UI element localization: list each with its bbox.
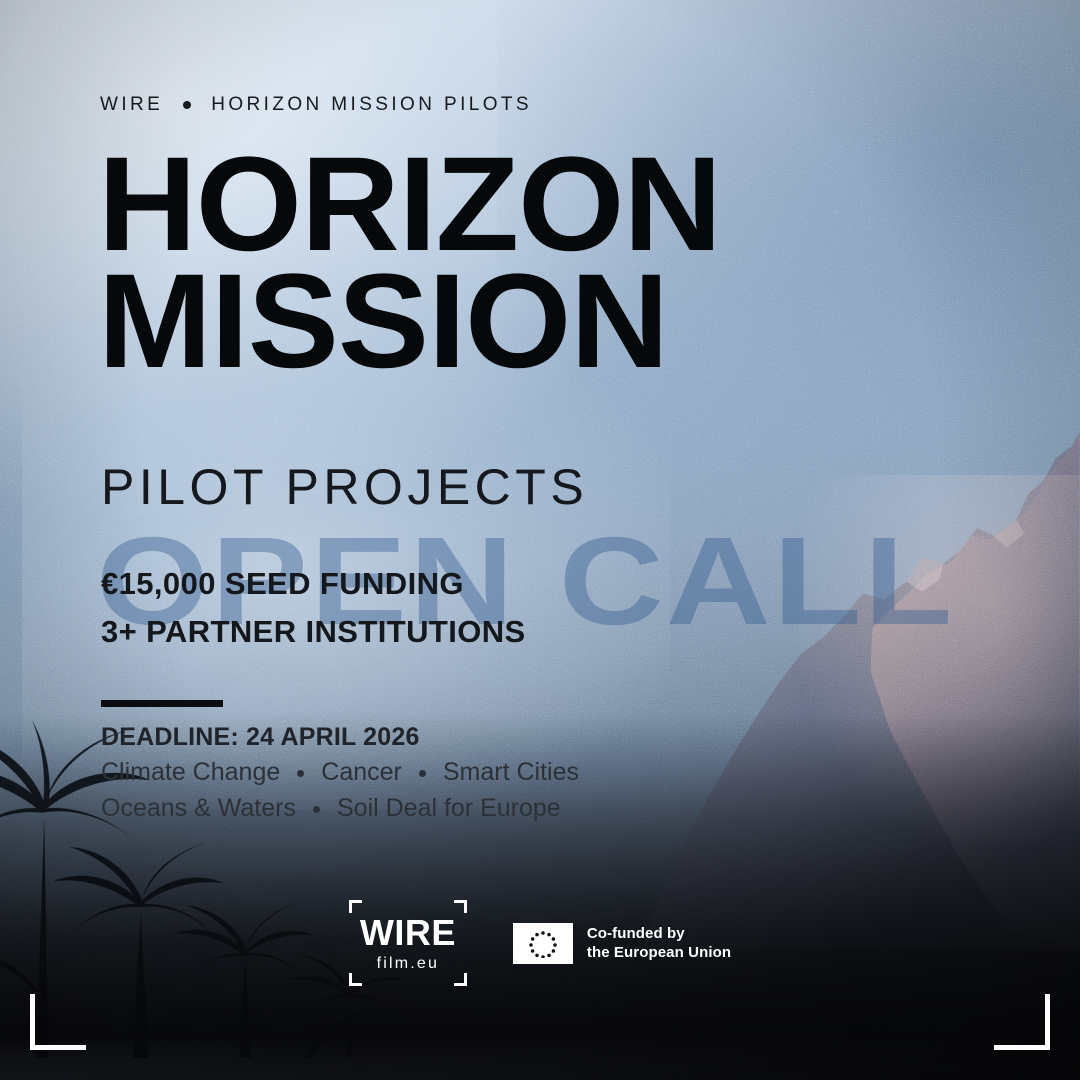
theme-row-2: Oceans & Waters Soil Deal for Europe <box>101 791 579 827</box>
eu-cofunding-text: Co-funded by the European Union <box>587 924 731 962</box>
subtitle: PILOT PROJECTS <box>101 458 588 516</box>
crop-mark-bottom-right <box>994 994 1050 1050</box>
theme-item: Soil Deal for Europe <box>337 791 561 827</box>
poster-content: WIRE HORIZON MISSION PILOTS OPEN CALL HO… <box>0 0 1080 1080</box>
page-title: HORIZON MISSION <box>98 143 721 384</box>
corner-bracket-icon <box>349 973 362 986</box>
eu-flag-icon <box>513 923 573 964</box>
fact-partners: 3+ PARTNER INSTITUTIONS <box>101 608 526 656</box>
theme-item: Oceans & Waters <box>101 791 296 827</box>
mission-themes: Climate Change Cancer Smart Cities Ocean… <box>101 755 579 827</box>
footer-logos: WIRE film.eu <box>0 900 1080 986</box>
key-facts: €15,000 SEED FUNDING 3+ PARTNER INSTITUT… <box>101 560 526 656</box>
wire-domain: film.eu <box>377 956 440 972</box>
wire-wordmark: WIRE <box>360 915 456 951</box>
theme-item: Cancer <box>321 755 402 791</box>
bullet-dot-icon <box>313 806 320 813</box>
divider-rule <box>101 700 223 707</box>
theme-row-1: Climate Change Cancer Smart Cities <box>101 755 579 791</box>
headline-line-2: MISSION <box>98 260 721 383</box>
corner-bracket-icon <box>454 973 467 986</box>
eyebrow-brand: WIRE <box>100 94 163 116</box>
corner-bracket-icon <box>349 900 362 913</box>
deadline-text: DEADLINE: 24 APRIL 2026 <box>101 723 420 752</box>
poster-canvas: WIRE HORIZON MISSION PILOTS OPEN CALL HO… <box>0 0 1080 1080</box>
wire-logo: WIRE film.eu <box>349 900 467 986</box>
fact-funding: €15,000 SEED FUNDING <box>101 560 526 608</box>
eyebrow-program: HORIZON MISSION PILOTS <box>211 94 532 116</box>
eu-text-line-2: the European Union <box>587 943 731 962</box>
bullet-dot-icon <box>183 101 191 109</box>
eyebrow: WIRE HORIZON MISSION PILOTS <box>100 94 532 116</box>
bullet-dot-icon <box>419 770 426 777</box>
theme-item: Climate Change <box>101 755 280 791</box>
eu-text-line-1: Co-funded by <box>587 924 731 943</box>
crop-mark-bottom-left <box>30 994 86 1050</box>
eu-cofunding-badge: Co-funded by the European Union <box>513 923 731 964</box>
bullet-dot-icon <box>297 770 304 777</box>
theme-item: Smart Cities <box>443 755 579 791</box>
corner-bracket-icon <box>454 900 467 913</box>
